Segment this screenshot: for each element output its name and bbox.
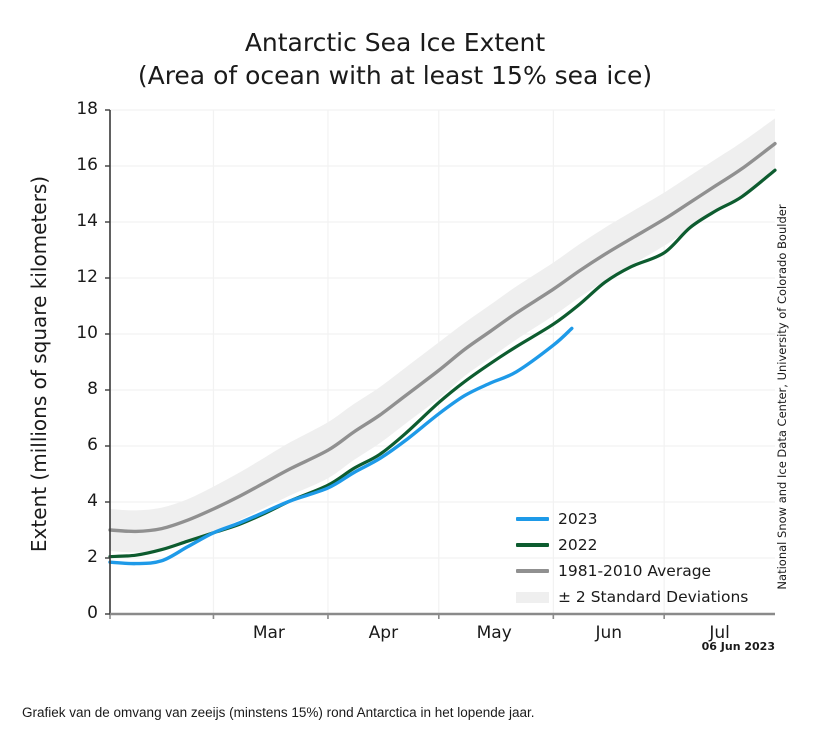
figure-caption: Grafiek van de omvang van zeeijs (minste… bbox=[22, 705, 535, 720]
legend-item-2022[interactable]: 2022 bbox=[516, 532, 766, 558]
y-tick-label: 4 bbox=[62, 491, 98, 511]
y-tick-label: 14 bbox=[62, 211, 98, 231]
y-tick-label: 18 bbox=[62, 99, 98, 119]
y-tick-label: 2 bbox=[62, 547, 98, 567]
legend-item-stddev[interactable]: ± 2 Standard Deviations bbox=[516, 584, 766, 610]
x-tick-label: Apr bbox=[338, 623, 428, 643]
y-tick-label: 10 bbox=[62, 323, 98, 343]
y-tick-label: 6 bbox=[62, 435, 98, 455]
x-tick-label: Jun bbox=[564, 623, 654, 643]
chart-legend: 2023 2022 1981-2010 Average ± 2 Standard… bbox=[516, 506, 766, 610]
x-tick-label: Mar bbox=[224, 623, 314, 643]
legend-item-2023[interactable]: 2023 bbox=[516, 506, 766, 532]
legend-swatch-average bbox=[516, 569, 549, 572]
y-tick-label: 8 bbox=[62, 379, 98, 399]
y-tick-label: 12 bbox=[62, 267, 98, 287]
y-tick-label: 16 bbox=[62, 155, 98, 175]
legend-label-stddev: ± 2 Standard Deviations bbox=[558, 588, 748, 606]
legend-label-2022: 2022 bbox=[558, 536, 597, 554]
x-tick-label: May bbox=[449, 623, 539, 643]
legend-swatch-2023 bbox=[516, 517, 549, 520]
y-tick-label: 0 bbox=[62, 603, 98, 623]
legend-item-average[interactable]: 1981-2010 Average bbox=[516, 558, 766, 584]
chart-figure: Antarctic Sea Ice Extent (Area of ocean … bbox=[0, 0, 821, 734]
x-tick-label: Jul bbox=[675, 623, 765, 643]
legend-label-average: 1981-2010 Average bbox=[558, 562, 711, 580]
legend-label-2023: 2023 bbox=[558, 510, 597, 528]
legend-swatch-2022 bbox=[516, 543, 549, 546]
legend-swatch-stddev bbox=[516, 592, 549, 603]
